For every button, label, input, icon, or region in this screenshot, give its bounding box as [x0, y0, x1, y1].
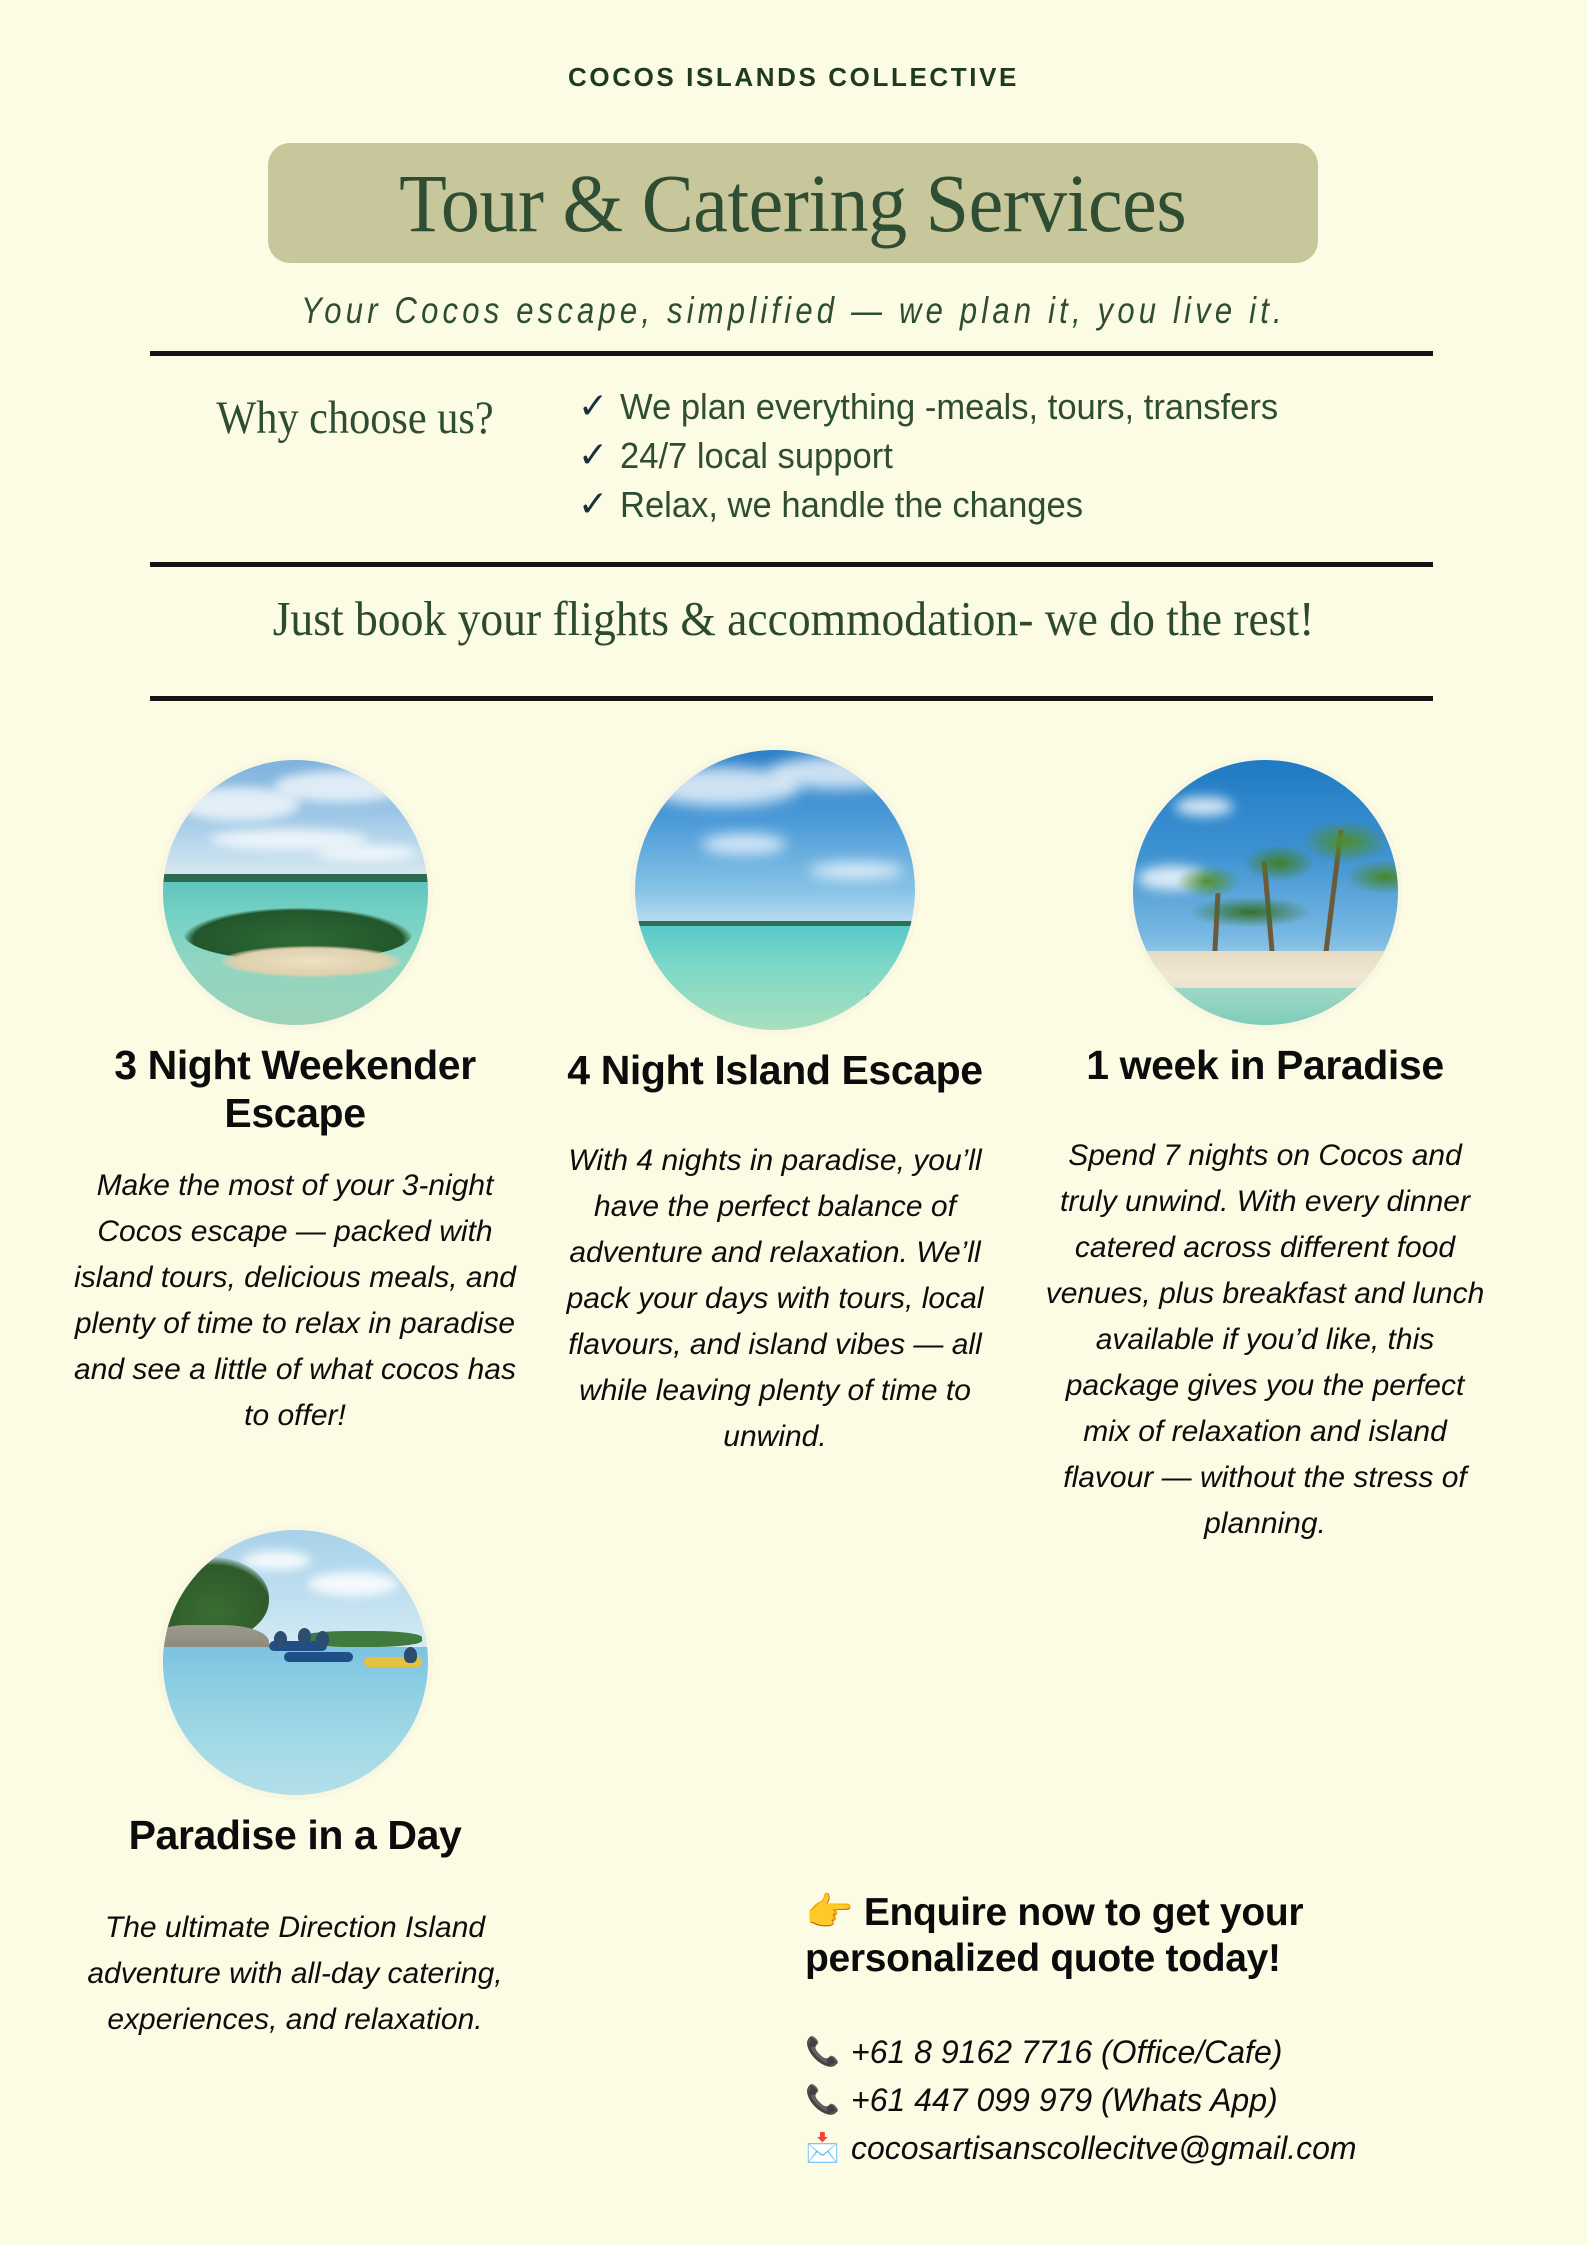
pointing-hand-icon: 👉 — [805, 1891, 853, 1934]
package-title: 4 Night Island Escape — [545, 1046, 1005, 1094]
why-item-label: We plan everything -meals, tours, transf… — [620, 388, 1278, 426]
contact-phone-office[interactable]: 📞 +61 8 9162 7716 (Office/Cafe) — [805, 2028, 1505, 2076]
poster-canvas: COCOS ISLANDS COLLECTIVE Tour & Catering… — [0, 0, 1587, 2245]
enquire-heading: 👉 Enquire now to get your personalized q… — [805, 1890, 1505, 1982]
enquire-heading-text: Enquire now to get your personalized quo… — [805, 1891, 1303, 1980]
phone-icon: 📞 — [805, 2028, 839, 2076]
check-icon: ✓ — [578, 388, 608, 424]
package-title: 1 week in Paradise — [1035, 1041, 1495, 1089]
package-description: The ultimate Direction Island adventure … — [65, 1905, 525, 2043]
package-description: Make the most of your 3-night Cocos esca… — [65, 1163, 525, 1439]
palm-beach-photo — [1133, 760, 1398, 1025]
package-card: 4 Night Island Escape With 4 nights in p… — [545, 750, 1005, 1460]
contact-phone-whatsapp[interactable]: 📞 +61 447 099 979 (Whats App) — [805, 2076, 1505, 2124]
phone-icon: 📞 — [805, 2076, 839, 2124]
divider-middle — [150, 562, 1433, 567]
envelope-icon: 📩 — [805, 2124, 839, 2172]
why-item-label: Relax, we handle the changes — [620, 486, 1083, 524]
contact-value: +61 447 099 979 (Whats App) — [851, 2076, 1278, 2124]
package-card: Paradise in a Day The ultimate Direction… — [65, 1530, 525, 2043]
why-item-label: 24/7 local support — [620, 437, 893, 475]
package-description: With 4 nights in paradise, you’ll have t… — [545, 1138, 1005, 1460]
contact-block: 👉 Enquire now to get your personalized q… — [805, 1890, 1505, 2172]
contact-details-list: 📞 +61 8 9162 7716 (Office/Cafe) 📞 +61 44… — [805, 2028, 1505, 2172]
divider-bottom — [150, 696, 1433, 701]
package-card: 1 week in Paradise Spend 7 nights on Coc… — [1035, 760, 1495, 1547]
kayak-cove-photo — [163, 1530, 428, 1795]
package-title: Paradise in a Day — [65, 1811, 525, 1859]
why-choose-us-label: Why choose us? — [175, 391, 535, 445]
package-title: 3 Night Weekender Escape — [65, 1041, 525, 1137]
package-card: 3 Night Weekender Escape Make the most o… — [65, 760, 525, 1439]
brand-eyebrow: COCOS ISLANDS COLLECTIVE — [0, 62, 1587, 93]
check-icon: ✓ — [578, 437, 608, 473]
why-item: ✓ We plan everything -meals, tours, tran… — [578, 388, 1306, 426]
divider-top — [150, 351, 1433, 356]
lagoon-islet-aerial-photo — [163, 760, 428, 1025]
brand-tagline: Your Cocos escape, simplified — we plan … — [0, 289, 1587, 332]
check-icon: ✓ — [578, 486, 608, 522]
contact-email[interactable]: 📩 cocosartisanscollecitve@gmail.com — [805, 2124, 1505, 2172]
package-description: Spend 7 nights on Cocos and truly unwind… — [1035, 1133, 1495, 1547]
why-choose-us-list: ✓ We plan everything -meals, tours, tran… — [578, 388, 1306, 535]
page-title: Tour & Catering Services — [399, 162, 1186, 245]
contact-value: cocosartisanscollecitve@gmail.com — [851, 2124, 1357, 2172]
title-banner: Tour & Catering Services — [268, 143, 1318, 263]
turquoise-lagoon-horizon-photo — [635, 750, 915, 1030]
why-item: ✓ 24/7 local support — [578, 437, 1306, 475]
book-flights-statement: Just book your flights & accommodation- … — [56, 590, 1532, 647]
contact-value: +61 8 9162 7716 (Office/Cafe) — [851, 2028, 1282, 2076]
why-item: ✓ Relax, we handle the changes — [578, 486, 1306, 524]
